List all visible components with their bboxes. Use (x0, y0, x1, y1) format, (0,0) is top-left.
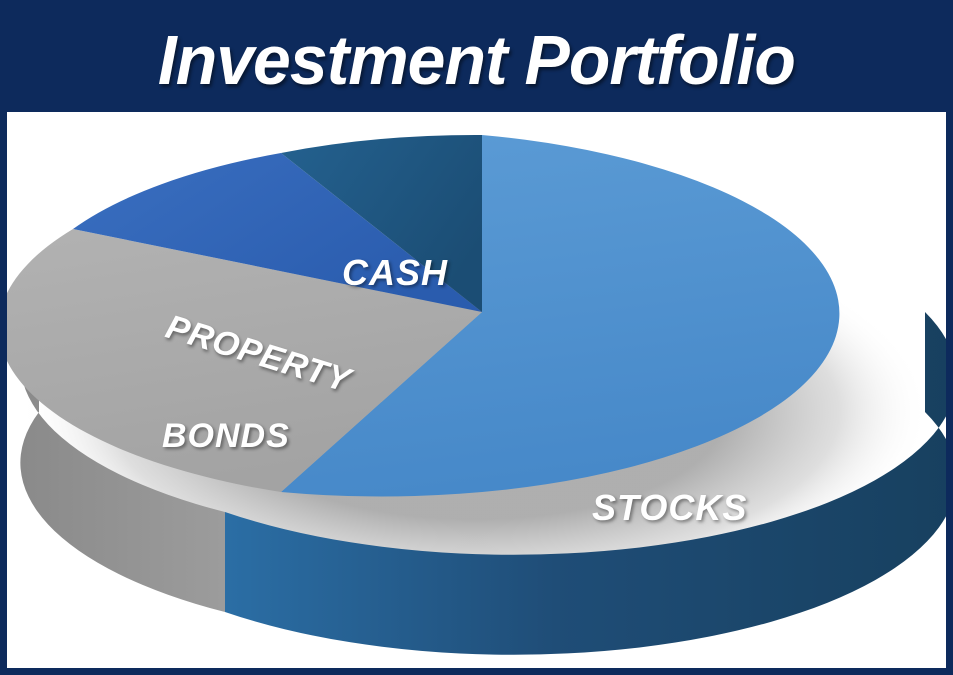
pie-chart-svg (7, 112, 946, 668)
title-banner: Investment Portfolio (7, 7, 946, 112)
pie-chart-plot-area: STOCKS BONDS PROPERTY CASH (7, 112, 946, 668)
page-title: Investment Portfolio (158, 20, 795, 100)
chart-poster: Investment Portfolio (0, 0, 953, 675)
